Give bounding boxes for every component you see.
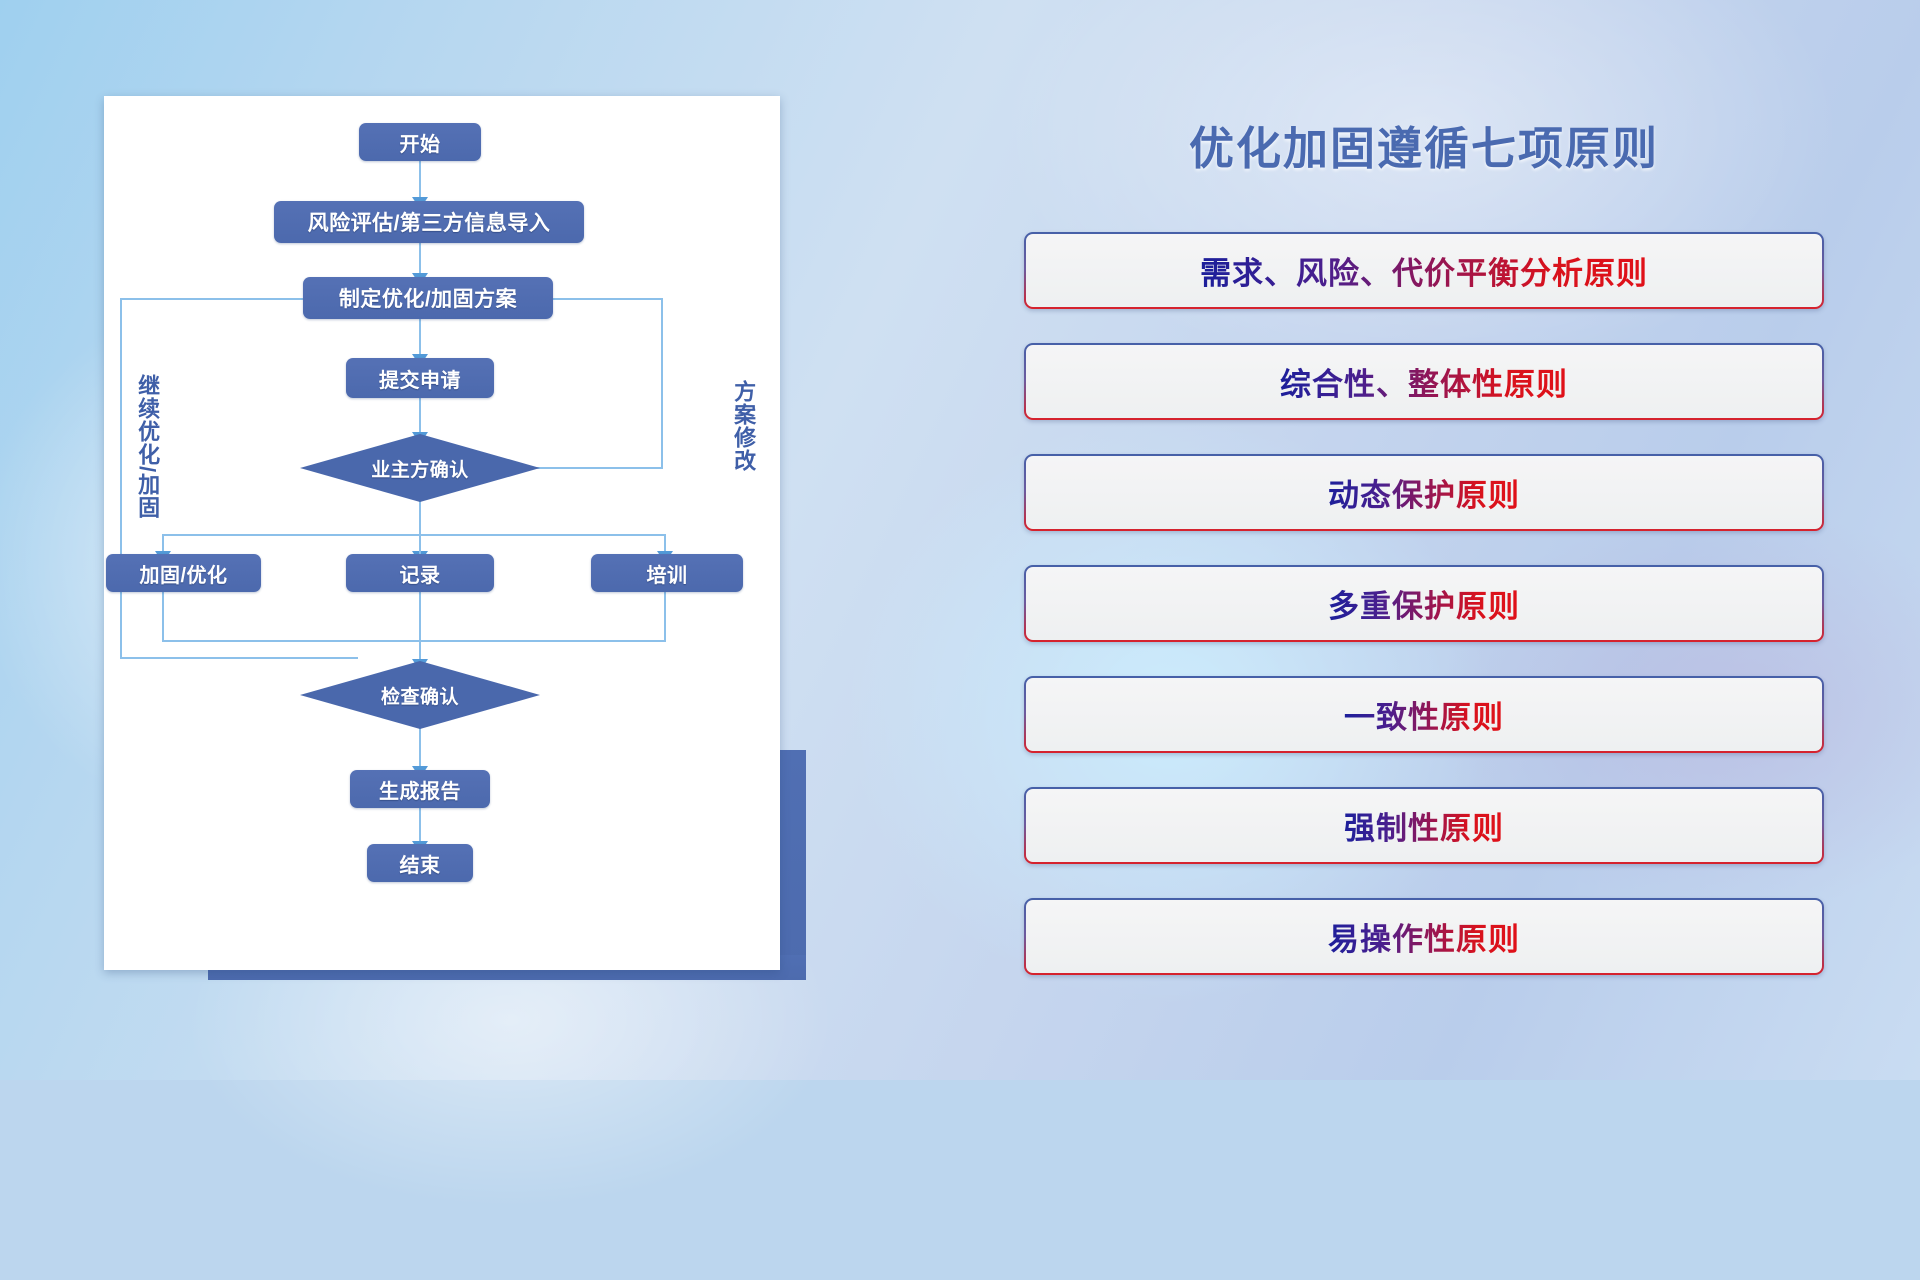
connector-merge-bus <box>162 640 666 642</box>
flowchart-card: 开始 风险评估/第三方信息导入 制定优化/加固方案 提交申请 业主方确认 加固/… <box>104 96 780 970</box>
flow-node-end[interactable]: 结束 <box>367 844 473 882</box>
principle-card-3[interactable]: 动态保护原则 <box>1024 454 1824 531</box>
connector-merge-left <box>162 591 164 642</box>
flow-node-report[interactable]: 生成报告 <box>350 770 490 808</box>
principles-title: 优化加固遵循七项原则 <box>1024 112 1824 177</box>
connector-check-report <box>419 728 421 768</box>
principle-card-6-inner: 强制性原则 <box>1026 789 1822 862</box>
flow-node-submit[interactable]: 提交申请 <box>346 358 494 398</box>
flow-node-risk-assessment-label: 风险评估/第三方信息导入 <box>308 207 551 237</box>
flow-node-reinforce[interactable]: 加固/优化 <box>106 554 261 592</box>
flow-decision-check-confirm[interactable]: 检查确认 <box>300 661 540 729</box>
principle-card-3-inner: 动态保护原则 <box>1026 456 1822 529</box>
flow-node-submit-label: 提交申请 <box>379 364 461 393</box>
flow-node-end-label: 结束 <box>400 849 441 878</box>
principle-card-5[interactable]: 一致性原则 <box>1024 676 1824 753</box>
principle-card-2[interactable]: 综合性、整体性原则 <box>1024 343 1824 420</box>
connector-left-vertical <box>120 298 122 658</box>
edge-label-continue-optimize: 继续优化/加固 <box>136 374 159 519</box>
connector-start-risk <box>419 159 421 199</box>
flow-decision-owner-confirm-label: 业主方确认 <box>371 455 469 482</box>
flow-decision-owner-confirm[interactable]: 业主方确认 <box>300 434 540 502</box>
principle-card-4-label: 多重保护原则 <box>1328 581 1520 626</box>
connector-merge-center <box>419 591 421 663</box>
connector-report-end <box>419 808 421 843</box>
connector-check-to-left <box>120 657 358 659</box>
principles-list: 需求、风险、代价平衡分析原则 综合性、整体性原则 动态保护原则 多重保护原则 一… <box>1024 232 1824 1009</box>
connector-merge-right <box>664 591 666 642</box>
principle-card-1[interactable]: 需求、风险、代价平衡分析原则 <box>1024 232 1824 309</box>
flow-node-start-label: 开始 <box>400 128 441 157</box>
principle-card-2-label: 综合性、整体性原则 <box>1280 359 1568 404</box>
flow-node-training-label: 培训 <box>647 559 688 588</box>
flow-node-record[interactable]: 记录 <box>346 554 494 592</box>
flow-node-plan-label: 制定优化/加固方案 <box>339 283 517 313</box>
principle-card-4-inner: 多重保护原则 <box>1026 567 1822 640</box>
connector-branch-center <box>419 534 421 556</box>
principle-card-7-label: 易操作性原则 <box>1328 914 1520 959</box>
principle-card-3-label: 动态保护原则 <box>1328 470 1520 515</box>
flow-node-start[interactable]: 开始 <box>359 123 481 161</box>
principle-card-4[interactable]: 多重保护原则 <box>1024 565 1824 642</box>
principle-card-1-inner: 需求、风险、代价平衡分析原则 <box>1026 234 1822 307</box>
principle-card-6[interactable]: 强制性原则 <box>1024 787 1824 864</box>
connector-plan-submit <box>419 318 421 356</box>
principle-card-7-inner: 易操作性原则 <box>1026 900 1822 973</box>
connector-branch-bus <box>162 534 666 536</box>
flow-node-risk-assessment[interactable]: 风险评估/第三方信息导入 <box>274 201 584 243</box>
connector-owner-down <box>419 501 421 536</box>
flow-decision-check-confirm-label: 检查确认 <box>381 682 459 709</box>
principle-card-7[interactable]: 易操作性原则 <box>1024 898 1824 975</box>
flow-node-plan[interactable]: 制定优化/加固方案 <box>303 277 553 319</box>
principle-card-1-label: 需求、风险、代价平衡分析原则 <box>1200 248 1648 293</box>
edge-label-plan-revision: 方案修改 <box>732 380 755 472</box>
flow-node-training[interactable]: 培训 <box>591 554 743 592</box>
flow-node-report-label: 生成报告 <box>379 775 461 804</box>
principle-card-2-inner: 综合性、整体性原则 <box>1026 345 1822 418</box>
principle-card-5-label: 一致性原则 <box>1344 692 1504 737</box>
principle-card-6-label: 强制性原则 <box>1344 803 1504 848</box>
principle-card-5-inner: 一致性原则 <box>1026 678 1822 751</box>
flow-node-record-label: 记录 <box>400 559 441 588</box>
flow-node-reinforce-label: 加固/优化 <box>139 559 227 588</box>
connector-submit-owner <box>419 396 421 434</box>
connector-risk-plan <box>419 239 421 275</box>
connector-right-up <box>661 298 663 469</box>
